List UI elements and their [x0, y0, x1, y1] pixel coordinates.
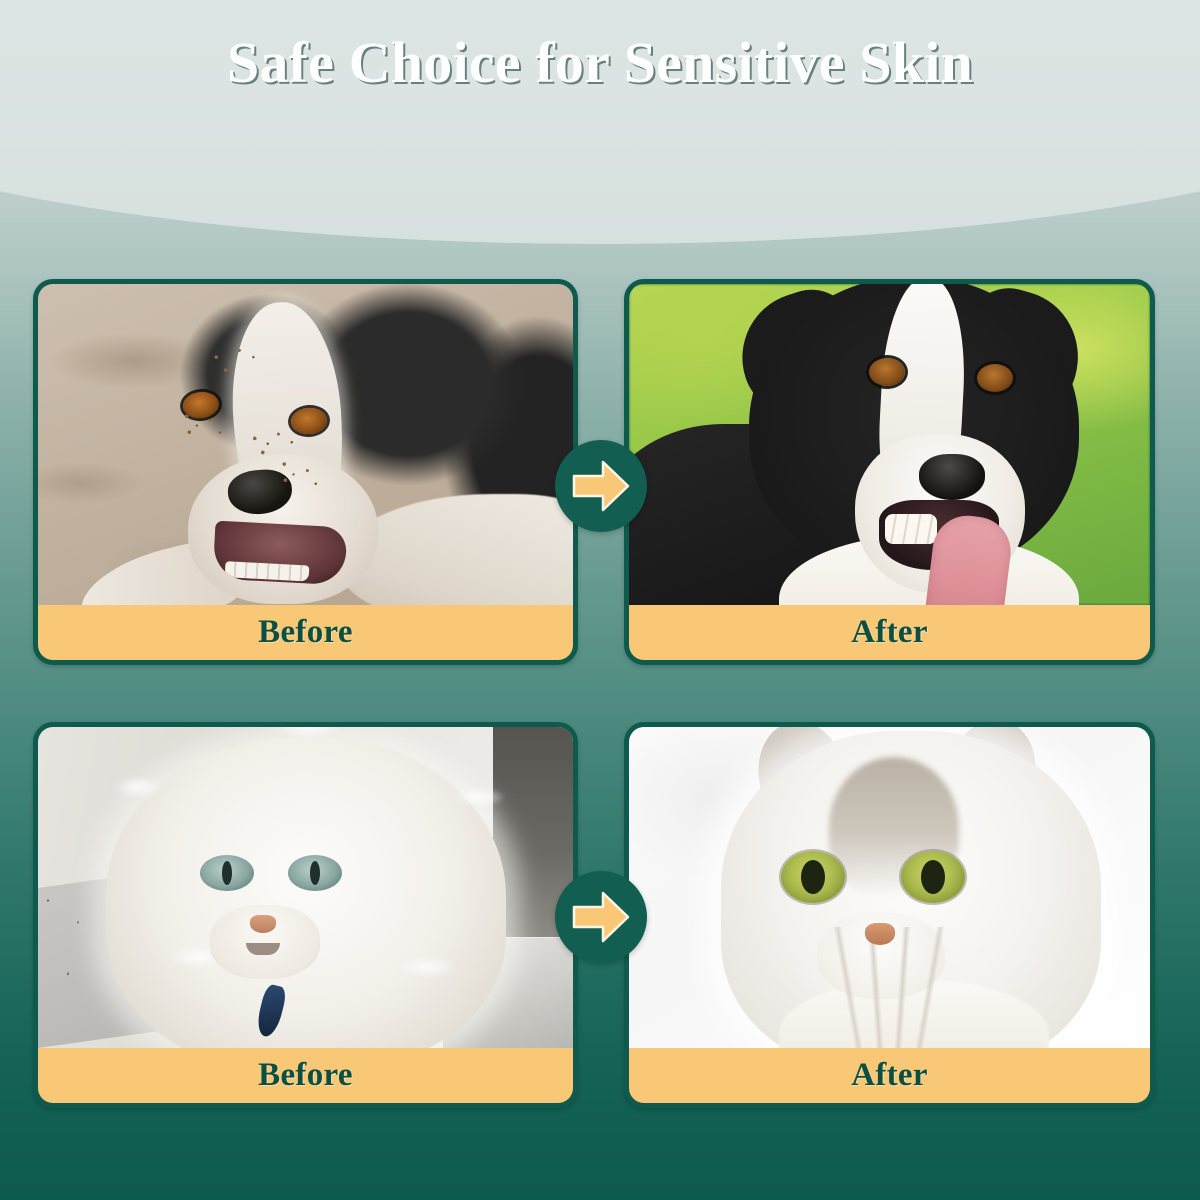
cat-nose: [250, 915, 276, 933]
promo-banner: Safe Choice for Sensitive Skin: [0, 0, 1200, 1200]
cat-pupil-left: [222, 861, 232, 885]
arrow-right-icon: [555, 871, 647, 963]
caption-before: Before: [38, 1048, 573, 1103]
card-dog-after[interactable]: After: [624, 279, 1155, 665]
cat-pupil-left: [801, 860, 825, 894]
cat-eye-left: [200, 855, 254, 891]
dog-mouth: [213, 521, 348, 586]
cat-pupil-right: [921, 860, 945, 894]
caption-after: After: [629, 1048, 1150, 1103]
dog-dirty-photo: [38, 284, 573, 605]
arrow-right-icon: [555, 440, 647, 532]
dog-clean-photo: [629, 284, 1150, 605]
cat-whiskers: [689, 927, 1089, 1048]
cat-nose: [865, 923, 895, 945]
cat-eye-left: [781, 851, 845, 903]
caption-after: After: [629, 605, 1150, 660]
comparison-grid: Before: [0, 0, 1200, 1200]
cat-eye-right: [288, 855, 342, 891]
dog-eye-left: [869, 358, 905, 386]
cat-eye-right: [901, 851, 965, 903]
dog-nose: [919, 454, 985, 500]
dog-teeth: [225, 561, 310, 581]
dog-eye-right: [977, 364, 1013, 392]
caption-before: Before: [38, 605, 573, 660]
card-cat-after[interactable]: After: [624, 722, 1155, 1108]
card-dog-before[interactable]: Before: [33, 279, 578, 665]
dog-teeth: [885, 514, 937, 544]
card-cat-before[interactable]: Before: [33, 722, 578, 1108]
cat-clean-photo: [629, 727, 1150, 1048]
cat-pupil-right: [310, 861, 320, 885]
cat-dirty-photo: [38, 727, 573, 1048]
